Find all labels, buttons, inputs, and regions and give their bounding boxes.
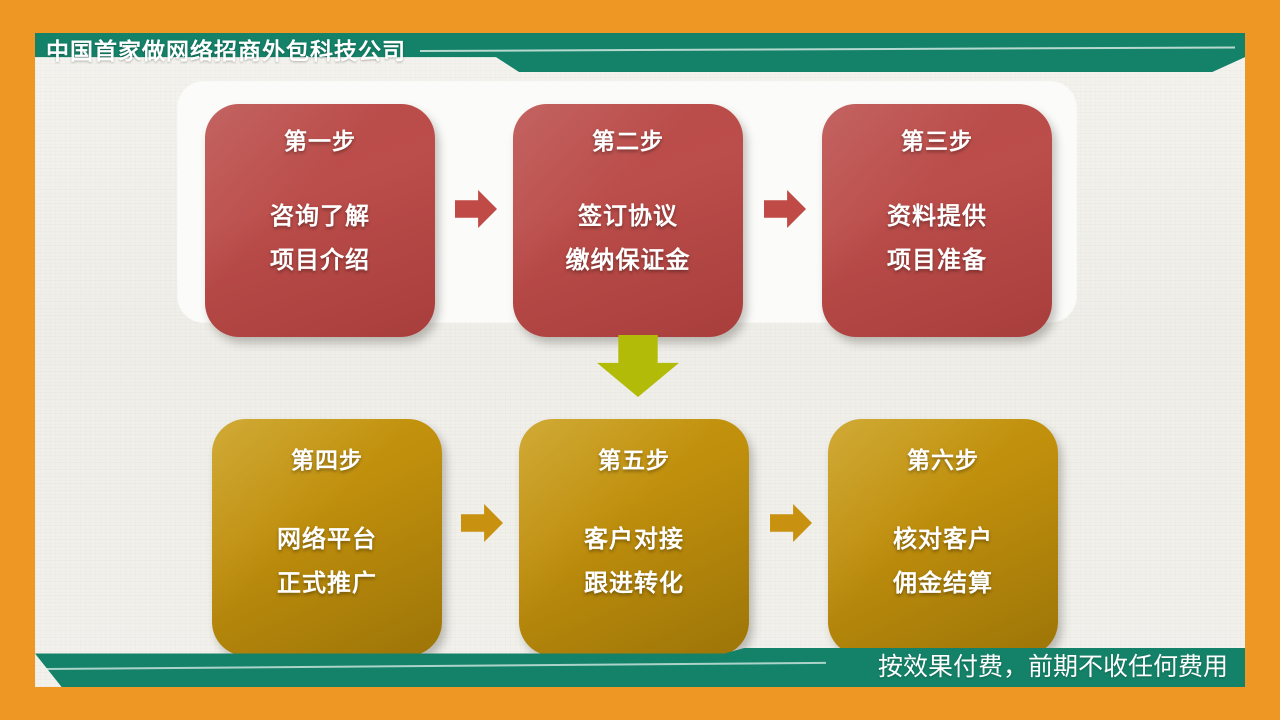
step-card-6-line1: 核对客户 bbox=[893, 517, 993, 561]
step-card-4-line1: 网络平台 bbox=[277, 517, 377, 561]
step-card-5-line2: 跟进转化 bbox=[584, 561, 684, 605]
step-card-5-line1: 客户对接 bbox=[584, 517, 684, 561]
step-card-4-description: 网络平台 正式推广 bbox=[277, 517, 377, 605]
page-title: 中国首家做网络招商外包科技公司 bbox=[46, 38, 406, 66]
step-card-2-label: 第二步 bbox=[592, 128, 664, 156]
step-card-3-description: 资料提供 项目准备 bbox=[887, 194, 987, 282]
step-card-5[interactable]: 第五步 客户对接 跟进转化 bbox=[519, 419, 749, 656]
step-card-3-line2: 项目准备 bbox=[887, 238, 987, 282]
step-card-6-label: 第六步 bbox=[907, 447, 979, 475]
step-card-2-description: 签订协议 缴纳保证金 bbox=[566, 194, 691, 282]
step-card-4-line2: 正式推广 bbox=[277, 561, 377, 605]
step-card-6[interactable]: 第六步 核对客户 佣金结算 bbox=[828, 419, 1058, 656]
step-card-2-line2: 缴纳保证金 bbox=[566, 238, 691, 282]
step-card-6-description: 核对客户 佣金结算 bbox=[893, 517, 993, 605]
step-card-1[interactable]: 第一步 咨询了解 项目介绍 bbox=[205, 104, 435, 337]
step-card-3-label: 第三步 bbox=[901, 128, 973, 156]
step-card-2[interactable]: 第二步 签订协议 缴纳保证金 bbox=[513, 104, 743, 337]
step-card-6-line2: 佣金结算 bbox=[893, 561, 993, 605]
step-card-2-line1: 签订协议 bbox=[566, 194, 691, 238]
step-card-1-description: 咨询了解 项目介绍 bbox=[270, 194, 370, 282]
step-card-4-label: 第四步 bbox=[291, 447, 363, 475]
step-card-1-line2: 项目介绍 bbox=[270, 238, 370, 282]
step-card-5-label: 第五步 bbox=[598, 447, 670, 475]
footer-tagline: 按效果付费，前期不收任何费用 bbox=[878, 650, 1228, 684]
step-card-1-line1: 咨询了解 bbox=[270, 194, 370, 238]
step-card-1-label: 第一步 bbox=[284, 128, 356, 156]
step-card-5-description: 客户对接 跟进转化 bbox=[584, 517, 684, 605]
step-card-4[interactable]: 第四步 网络平台 正式推广 bbox=[212, 419, 442, 656]
step-card-3-line1: 资料提供 bbox=[887, 194, 987, 238]
step-card-3[interactable]: 第三步 资料提供 项目准备 bbox=[822, 104, 1052, 337]
slide-canvas: 中国首家做网络招商外包科技公司 第一步 咨询了解 项目介绍 第二步 签订协议 缴… bbox=[0, 0, 1280, 720]
